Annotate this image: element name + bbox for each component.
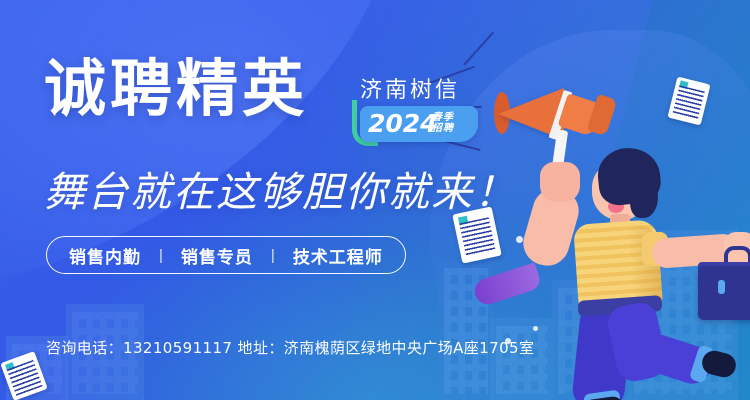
subheadline: 舞台就在这够胆你就来！: [44, 158, 517, 218]
job-positions-pill: 销售内勤 | 销售专员 | 技术工程师: [46, 236, 406, 274]
job-position-2[interactable]: 销售专员: [181, 243, 253, 268]
job-position-1[interactable]: 销售内勤: [69, 243, 141, 268]
badge-year-label: 2024: [368, 109, 438, 138]
badge-subtitle: 春季 招聘: [432, 112, 454, 134]
banner-content: 诚聘精英 济南树信 2024 春季 招聘 舞台就在这够胆你就来！ 销售内勤 | …: [0, 0, 750, 400]
job-separator: |: [159, 247, 163, 264]
job-separator: |: [271, 247, 275, 264]
badge-subtitle-line2: 招聘: [432, 123, 454, 134]
recruitment-banner: 诚聘精英 济南树信 2024 春季 招聘 舞台就在这够胆你就来！ 销售内勤 | …: [0, 0, 750, 400]
badge-subtitle-line1: 春季: [432, 112, 454, 123]
job-position-3[interactable]: 技术工程师: [293, 243, 383, 268]
page-title: 诚聘精英: [44, 58, 308, 120]
year-badge: 2024 春季 招聘: [352, 106, 478, 142]
contact-info: 咨询电话：13210591117 地址：济南槐荫区绿地中央广场A座1705室: [46, 337, 534, 358]
